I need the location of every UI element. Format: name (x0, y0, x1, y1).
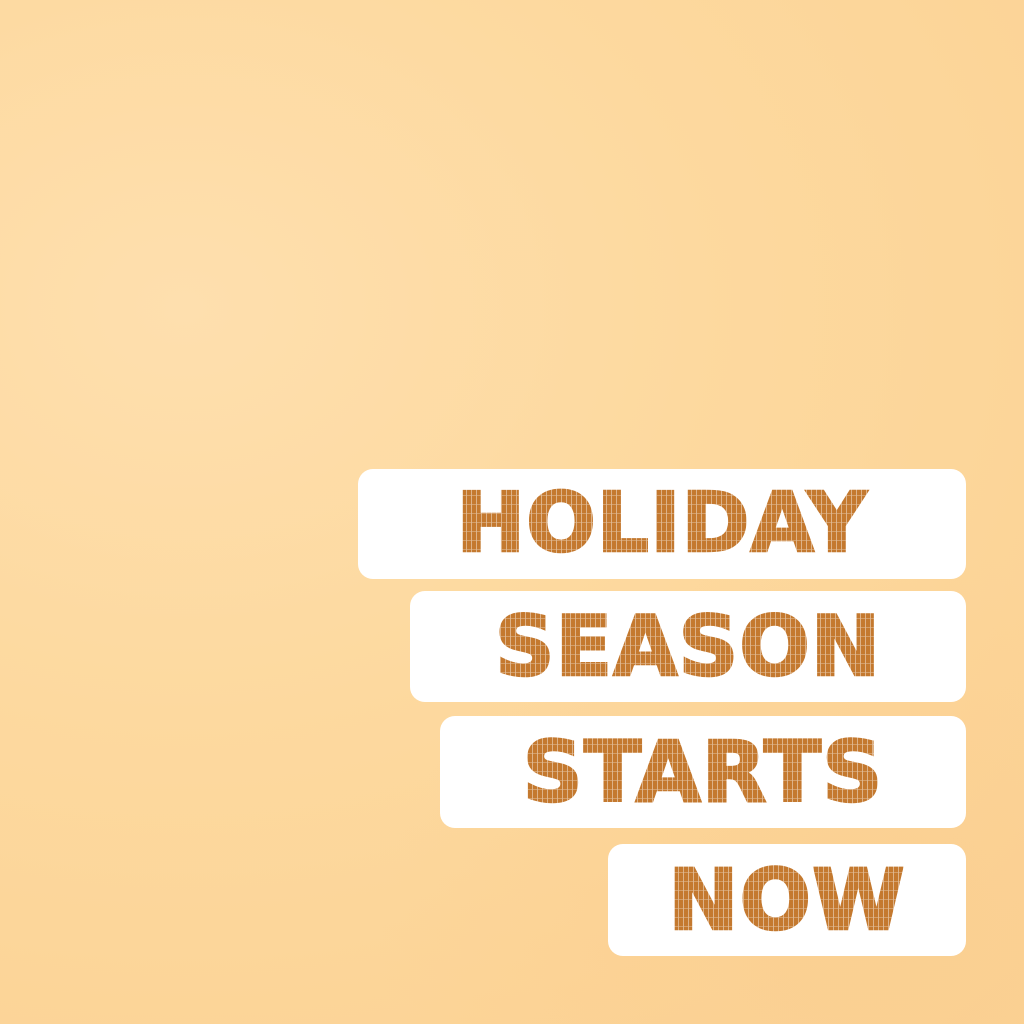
headline-line-2-wrapper: SEASON (495, 605, 882, 688)
headline-line-card-1: HOLIDAY (358, 469, 966, 579)
headline-line-4-text: NOW (668, 858, 905, 942)
headline-line-card-4: NOW (608, 844, 966, 956)
headline-line-1-wrapper: HOLIDAY (456, 483, 867, 565)
headline-line-2-text: SEASON (495, 605, 882, 688)
poster-canvas: HOLIDAY SEASON STARTS NOW (0, 0, 1024, 1024)
headline-line-card-2: SEASON (410, 591, 966, 702)
headline-stack: HOLIDAY SEASON STARTS NOW (0, 0, 1024, 1024)
headline-line-1-text: HOLIDAY (456, 483, 867, 565)
headline-line-card-3: STARTS (440, 716, 966, 828)
headline-line-3-text: STARTS (522, 730, 883, 814)
headline-line-3-wrapper: STARTS (522, 730, 883, 814)
headline-line-4-wrapper: NOW (668, 858, 905, 942)
